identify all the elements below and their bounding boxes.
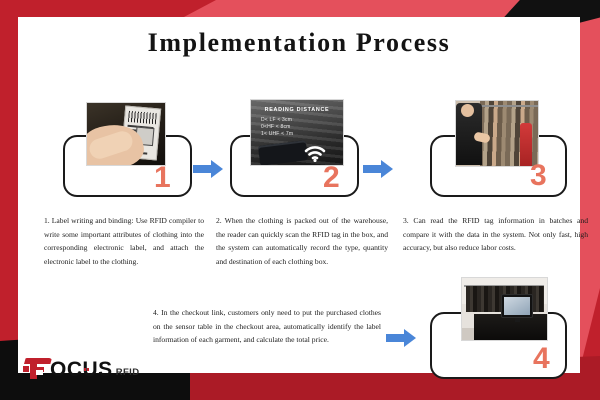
content-card: Implementation Process 1 bbox=[18, 17, 580, 373]
arrow-step1-to-step2 bbox=[193, 160, 223, 183]
person-head bbox=[461, 104, 474, 117]
barcode-stripe bbox=[128, 111, 157, 124]
reading-distance-line: 1< UHF < 7m bbox=[261, 131, 293, 138]
step-description-4: 4. In the checkout link, customers only … bbox=[153, 306, 381, 347]
step-description-3: 3. Can read the RFID tag information in … bbox=[403, 214, 588, 255]
wifi-signal-icon bbox=[303, 144, 327, 162]
logo-f-square-inner bbox=[23, 366, 29, 372]
arrow-right-icon bbox=[386, 329, 416, 347]
step-photo-3 bbox=[455, 100, 539, 167]
step-photo-2: READING DISTANCE D< LF < 3cm 0<HF < 8cm … bbox=[250, 99, 344, 166]
logo-f-mark-icon bbox=[22, 358, 52, 380]
brand-logo: OCUS RFID bbox=[22, 356, 139, 382]
step-number-1: 1 bbox=[154, 163, 171, 193]
step-photo-1 bbox=[86, 102, 166, 166]
step-number-3: 3 bbox=[530, 161, 547, 191]
reading-distance-values: D< LF < 3cm 0<HF < 8cm 1< UHF < 7m bbox=[261, 117, 293, 138]
logo-f-top-bar bbox=[24, 358, 52, 364]
arrow-right-icon bbox=[193, 160, 223, 178]
monitor-screen bbox=[504, 297, 530, 315]
step-description-1: 1. Label writing and binding: Use RFID c… bbox=[44, 214, 204, 268]
logo-suffix-text: RFID bbox=[116, 367, 140, 378]
step-description-2: 2. When the clothing is packed out of th… bbox=[216, 214, 388, 268]
arrow-step3-to-step4 bbox=[386, 329, 416, 352]
arrow-step2-to-step3 bbox=[363, 160, 393, 183]
logo-brand-text: OCUS bbox=[50, 359, 113, 380]
step-photo-4 bbox=[461, 277, 548, 341]
logo-signal-dots-icon bbox=[84, 358, 94, 362]
step-number-4: 4 bbox=[533, 344, 550, 374]
arrow-right-icon bbox=[363, 160, 393, 178]
rack-rod bbox=[480, 105, 538, 107]
page-title: Implementation Process bbox=[18, 28, 580, 58]
reading-distance-heading: READING DISTANCE bbox=[251, 107, 343, 113]
reading-distance-line: D< LF < 3cm bbox=[261, 117, 293, 124]
step-number-2: 2 bbox=[323, 163, 340, 193]
poster-canvas: Implementation Process 1 bbox=[0, 0, 600, 400]
logo-f-notch bbox=[36, 370, 43, 375]
pos-monitor bbox=[501, 294, 533, 318]
reading-distance-line: 0<HF < 8cm bbox=[261, 124, 293, 131]
